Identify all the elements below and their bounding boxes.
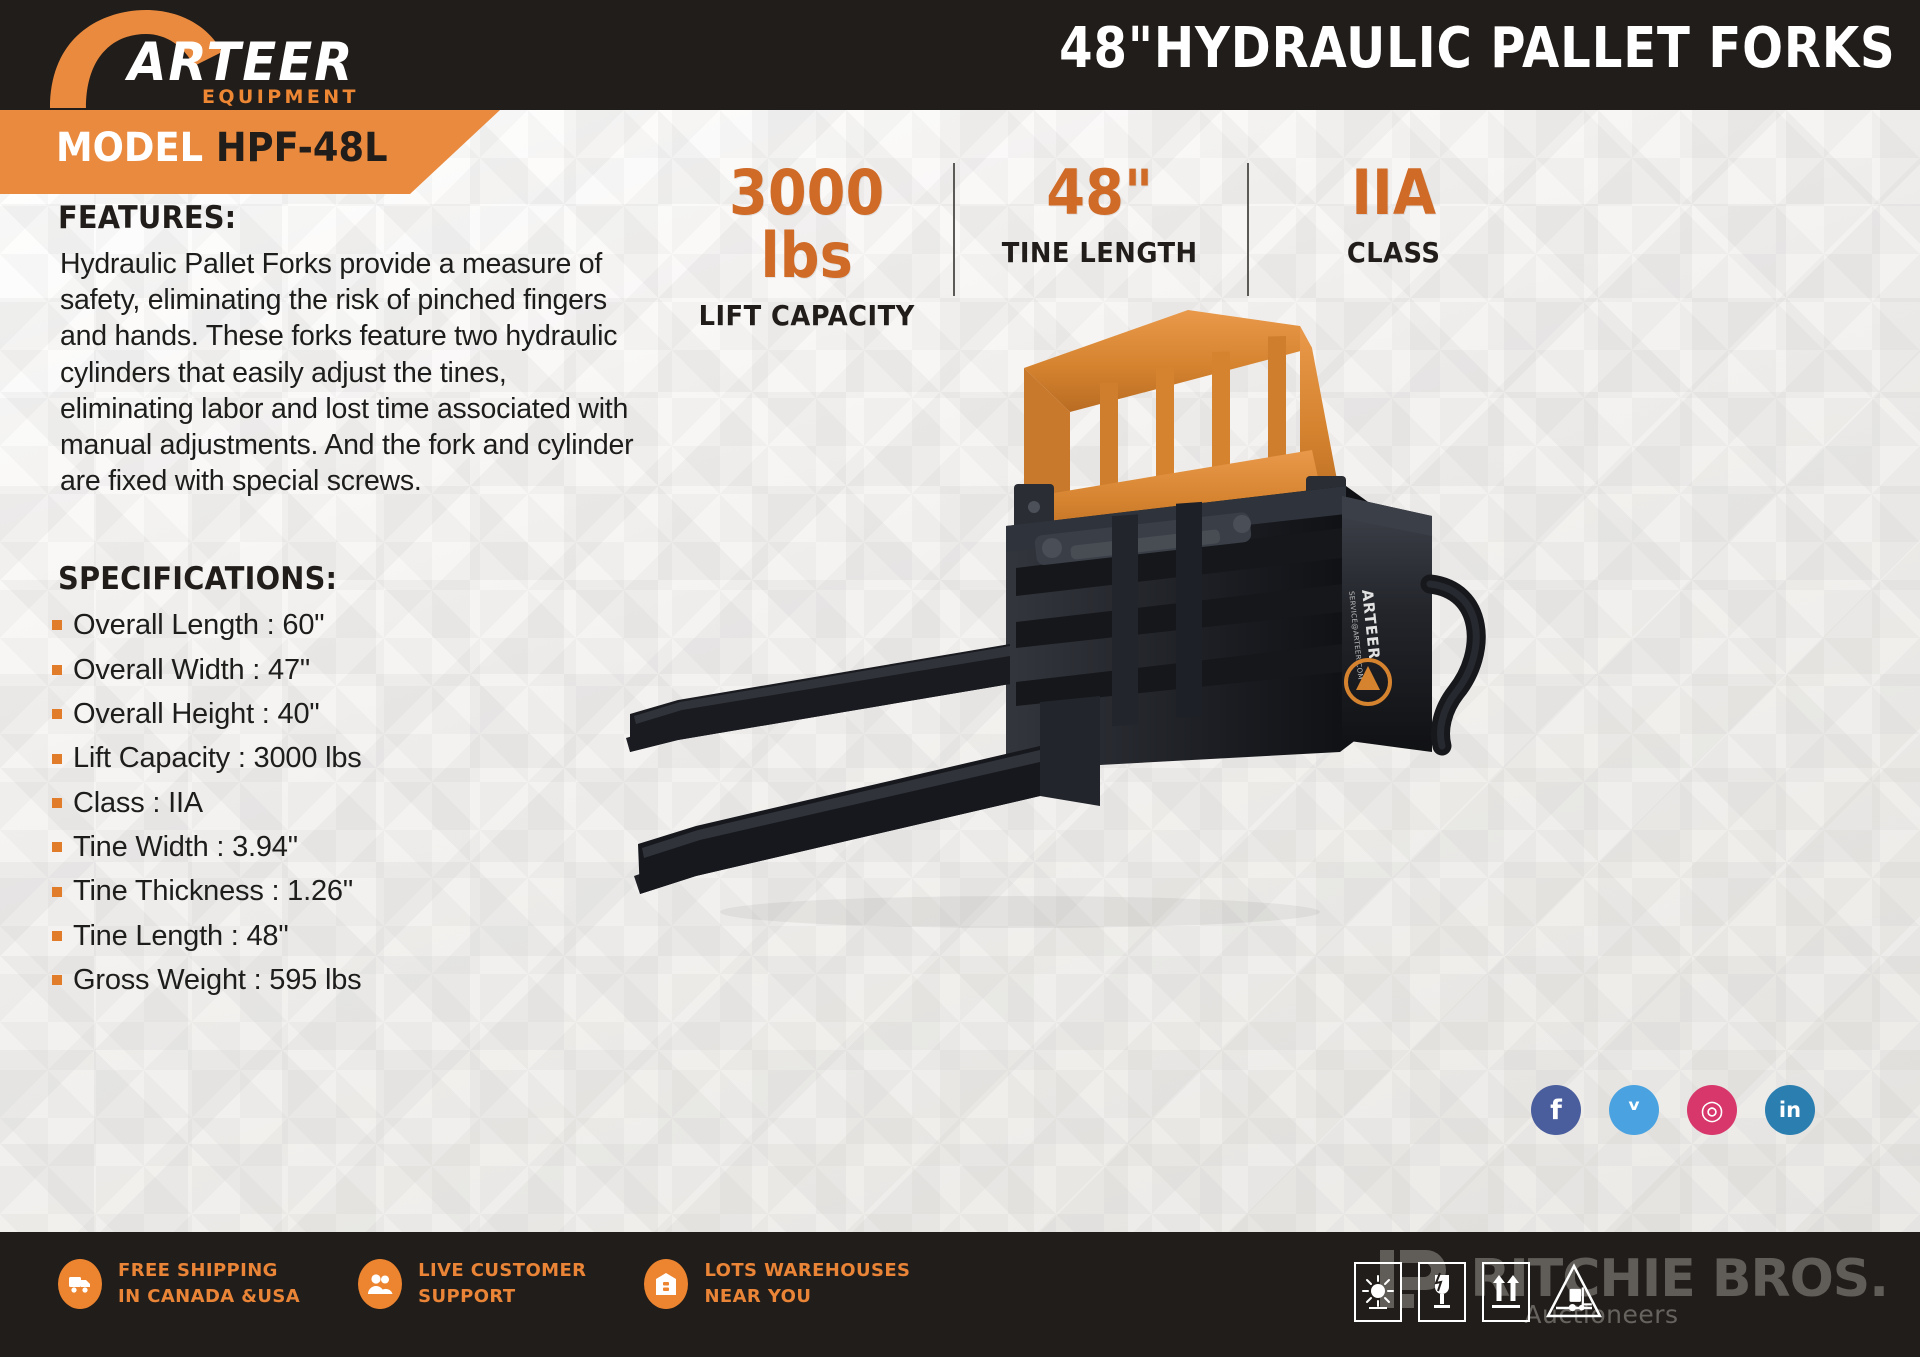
- instagram-icon[interactable]: ◎: [1687, 1085, 1737, 1135]
- specifications-list: Overall Length : 60"Overall Width : 47"O…: [52, 603, 660, 1002]
- spec-item-label: Lift Capacity : 3000 lbs: [73, 736, 362, 780]
- brand-logo: ARTEER EQUIPMENT: [42, 4, 372, 110]
- spec-item: Overall Width : 47": [52, 648, 660, 692]
- brand-tagline: EQUIPMENT: [202, 88, 359, 107]
- spec-item: Class : IIA: [52, 781, 660, 825]
- linkedin-icon[interactable]: in: [1765, 1085, 1815, 1135]
- people-icon: [358, 1259, 402, 1309]
- truck-icon: [58, 1259, 102, 1309]
- stat-block: IIACLASS: [1247, 155, 1540, 300]
- twitter-icon[interactable]: ᵛ: [1609, 1085, 1659, 1135]
- fragile-icon: [1418, 1262, 1466, 1322]
- spec-item: Tine Width : 3.94": [52, 825, 660, 869]
- stat-label: CLASS: [1258, 236, 1528, 269]
- facebook-icon[interactable]: f: [1531, 1085, 1581, 1135]
- footer-benefit: FREE SHIPPINGIN CANADA &USA: [58, 1258, 300, 1309]
- stat-block: 3000 lbsLIFT CAPACITY: [660, 155, 953, 300]
- spec-item: Lift Capacity : 3000 lbs: [52, 736, 660, 780]
- bullet-icon: [52, 887, 62, 897]
- footer-benefit-label: LOTS WAREHOUSESNEAR YOU: [704, 1258, 910, 1309]
- spec-item-label: Overall Width : 47": [73, 648, 310, 692]
- spec-item-label: Tine Length : 48": [73, 914, 288, 958]
- footer-benefit: LIVE CUSTOMERSUPPORT: [358, 1258, 586, 1309]
- page-header: ARTEER EQUIPMENT 48"HYDRAULIC PALLET FOR…: [0, 0, 1920, 110]
- bullet-icon: [52, 798, 62, 808]
- page-title: 48"HYDRAULIC PALLET FORKS: [1060, 18, 1896, 80]
- side-control-plate: ARTEER SERVICE@ARTEER.COM: [1342, 496, 1476, 752]
- bullet-icon: [52, 975, 62, 985]
- spec-item-label: Gross Weight : 595 lbs: [73, 958, 361, 1002]
- warehouse-icon: [644, 1259, 688, 1309]
- this-way-up-icon: [1482, 1262, 1530, 1322]
- spec-item: Tine Length : 48": [52, 914, 660, 958]
- keep-away-from-sunlight-icon: [1354, 1262, 1402, 1322]
- bullet-icon: [52, 931, 62, 941]
- bullet-icon: [52, 842, 62, 852]
- social-links[interactable]: fᵛ◎in: [1531, 1085, 1815, 1135]
- stat-value: IIA: [1261, 161, 1525, 224]
- key-stats-row: 3000 lbsLIFT CAPACITY48"TINE LENGTHIIACL…: [660, 155, 1540, 300]
- footer-benefit-label: LIVE CUSTOMERSUPPORT: [418, 1258, 586, 1309]
- footer-benefit-label: FREE SHIPPINGIN CANADA &USA: [118, 1258, 300, 1309]
- bullet-icon: [52, 754, 62, 764]
- specifications-heading: SPECIFICATIONS:: [58, 561, 618, 597]
- stat-value: 48": [968, 161, 1232, 224]
- stat-label: LIFT CAPACITY: [672, 299, 942, 332]
- stat-label: TINE LENGTH: [965, 236, 1235, 269]
- stat-block: 48"TINE LENGTH: [953, 155, 1246, 300]
- no-forklift-icon: [1546, 1262, 1602, 1327]
- stat-value: 3000 lbs: [675, 161, 939, 287]
- bullet-icon: [52, 620, 62, 630]
- spec-item: Tine Thickness : 1.26": [52, 869, 660, 913]
- tine-upper: [626, 644, 1010, 752]
- model-banner-label: MODEL HPF-48L: [56, 128, 388, 168]
- spec-item-label: Tine Thickness : 1.26": [73, 869, 353, 913]
- spec-item-label: Overall Length : 60": [73, 603, 324, 647]
- footer-benefits: FREE SHIPPINGIN CANADA &USALIVE CUSTOMER…: [58, 1258, 968, 1309]
- shipping-symbols: [1354, 1262, 1602, 1327]
- brand-name: ARTEER: [128, 36, 354, 89]
- model-number: HPF-48L: [216, 125, 388, 171]
- model-prefix: MODEL: [56, 125, 203, 171]
- spec-item: Overall Length : 60": [52, 603, 660, 647]
- spec-sheet: ARTEER EQUIPMENT 48"HYDRAULIC PALLET FOR…: [0, 0, 1920, 1357]
- specifications-block: SPECIFICATIONS: Overall Length : 60"Over…: [0, 561, 660, 1002]
- page-footer: FREE SHIPPINGIN CANADA &USALIVE CUSTOMER…: [0, 1232, 1920, 1357]
- footer-benefit: LOTS WAREHOUSESNEAR YOU: [644, 1258, 910, 1309]
- bullet-icon: [52, 709, 62, 719]
- features-body: Hydraulic Pallet Forks provide a measure…: [60, 246, 640, 499]
- spec-item-label: Tine Width : 3.94": [73, 825, 298, 869]
- product-image: ARTEER SERVICE@ARTEER.COM: [600, 300, 1920, 980]
- features-heading: FEATURES:: [58, 200, 618, 236]
- spec-item-label: Class : IIA: [73, 781, 203, 825]
- spec-item: Gross Weight : 595 lbs: [52, 958, 660, 1002]
- bullet-icon: [52, 665, 62, 675]
- spec-item-label: Overall Height : 40": [73, 692, 319, 736]
- spec-item: Overall Height : 40": [52, 692, 660, 736]
- left-content-column: FEATURES: Hydraulic Pallet Forks provide…: [0, 200, 660, 1003]
